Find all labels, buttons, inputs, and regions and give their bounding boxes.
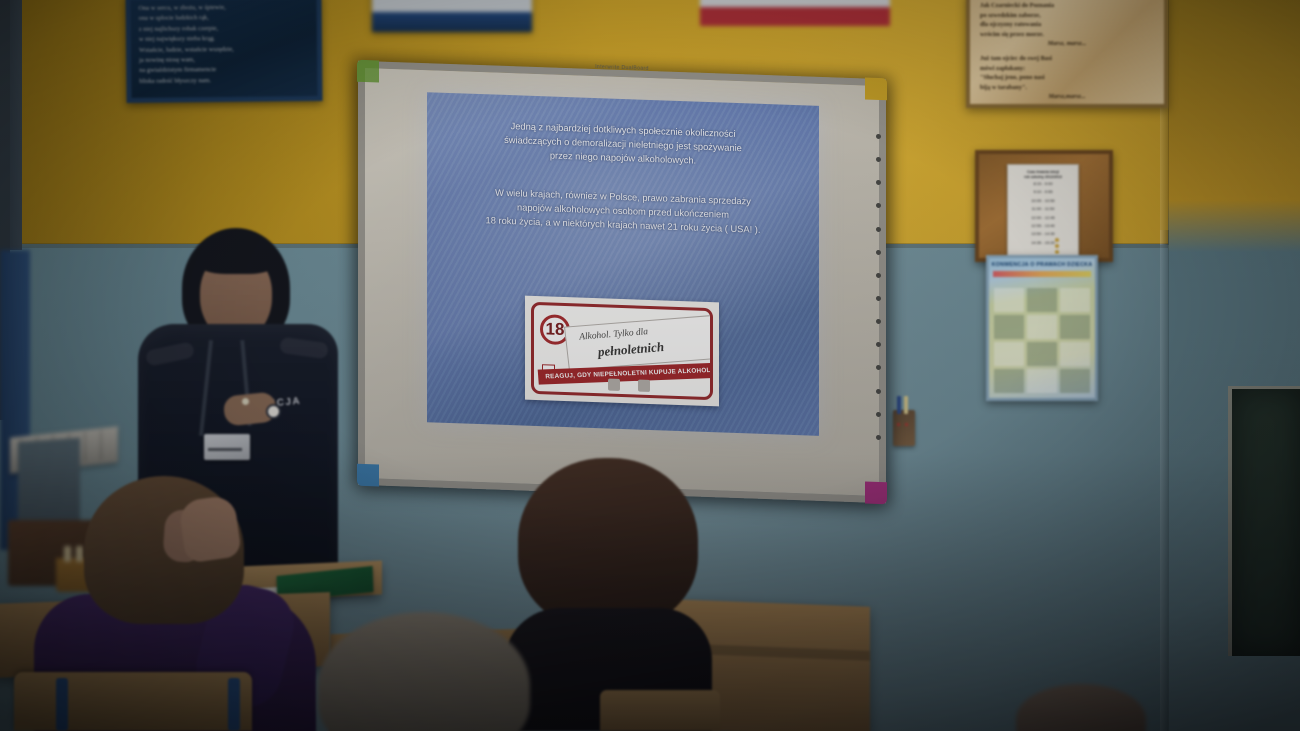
anthem-verse-1: Jak Czarniecki do Poznania po szwedzkim … xyxy=(980,1,1154,39)
whiteboard-brand-label: Interwrite DualBoard xyxy=(595,64,649,72)
sign-ribbon: Alkohol. Tylko dla pełnoletnich xyxy=(564,315,713,371)
board-corner-top-right xyxy=(865,77,887,100)
poster-poem-left: Ona w sercu, w zbożu, w śpiewie, ona w s… xyxy=(125,0,322,103)
schedule-heading: Czas trwania lekcji rok szkolny 2012/201… xyxy=(1011,170,1075,180)
rights-poster-grid xyxy=(994,288,1090,393)
schedule-row: 12:55 - 13:40 xyxy=(1011,222,1075,230)
rights-poster-title: KONWENCJA O PRAWACH DZIECKA xyxy=(989,262,1095,268)
anthem-refrain-1: Marsz, marsz... xyxy=(980,39,1154,49)
board-corner-bottom-left xyxy=(357,464,379,487)
officer-ring xyxy=(242,398,249,405)
student-dark-hair-head xyxy=(518,458,698,628)
chalkboard xyxy=(1228,386,1300,656)
schedule-row: 9:10 - 9:55 xyxy=(1011,188,1075,196)
student-hand-upper xyxy=(178,494,242,563)
chair-middle xyxy=(600,690,720,731)
corkboard: Czas trwania lekcji rok szkolny 2012/201… xyxy=(975,150,1113,262)
rights-poster-band xyxy=(993,271,1091,277)
board-corner-bottom-right xyxy=(865,481,887,504)
chair-front-left xyxy=(14,672,252,731)
interactive-whiteboard[interactable]: Interwrite DualBoard Jedną z najbardziej… xyxy=(358,61,886,503)
schedule-row: 11:00 - 11:50 xyxy=(1011,205,1075,213)
student-blond-head xyxy=(318,612,530,731)
poster-childrens-rights: KONWENCJA O PRAWACH DZIECKA xyxy=(986,255,1098,401)
projected-slide: Jedną z najbardziej dotkliwych społeczni… xyxy=(427,92,819,436)
chair-leg-right xyxy=(228,678,240,731)
officer-fringe xyxy=(196,242,278,274)
anthem-verse-2: Już tam ojciec do swej Basi mówi zapłaka… xyxy=(980,54,1154,92)
poster-flag-center-right xyxy=(700,0,890,26)
student-right-edge xyxy=(1016,684,1146,731)
student-blond-hair xyxy=(318,612,530,731)
chair-leg-left xyxy=(56,678,68,731)
student-right-edge-head xyxy=(1016,684,1146,731)
corkboard-pins xyxy=(1055,238,1059,256)
poster-anthem-right: Jak Czarniecki do Poznania po szwedzkim … xyxy=(966,0,1168,108)
flag-white-stripe xyxy=(372,0,532,12)
schedule-row: 12:00 - 12:45 xyxy=(1011,214,1075,222)
marker-beige xyxy=(904,396,908,414)
classroom-photo: Ona w sercu, w zbożu, w śpiewie, ona w s… xyxy=(0,0,1300,731)
flag-white-stripe-2 xyxy=(700,0,890,7)
officer-id-card xyxy=(204,434,250,460)
officer-wristwatch xyxy=(266,404,281,419)
board-corner-top-left xyxy=(357,60,379,83)
sign-line-2: pełnoletnich xyxy=(597,339,665,360)
schedule-row: 10:05 - 10:50 xyxy=(1011,197,1075,205)
slide-paragraph-2: W wielu krajach, również w Polsce, prawo… xyxy=(427,159,819,239)
poster-flag-center-left xyxy=(372,0,532,32)
wall-corner-edge xyxy=(1160,230,1169,731)
board-side-button-strip[interactable] xyxy=(874,134,882,440)
marker-holder xyxy=(893,410,915,446)
marker-blue xyxy=(897,396,901,414)
schedule-rows: 8:15 - 9:009:10 - 9:5510:05 - 10:5011:00… xyxy=(1011,180,1075,247)
lesson-schedule-sheet: Czas trwania lekcji rok szkolny 2012/201… xyxy=(1007,164,1079,258)
schedule-row: 8:15 - 9:00 xyxy=(1011,180,1075,188)
poem-text: Ona w sercu, w zbożu, w śpiewie, ona w s… xyxy=(139,2,310,87)
schedule-row: 13:50 - 14:30 xyxy=(1011,230,1075,238)
anthem-refrain-2: Marsz,marsz... xyxy=(980,92,1154,102)
schedule-row: 14:35 - 15:20 xyxy=(1011,239,1075,247)
alcohol-sign-image: 18 Alkohol. Tylko dla pełnoletnich REAGU… xyxy=(525,296,719,407)
